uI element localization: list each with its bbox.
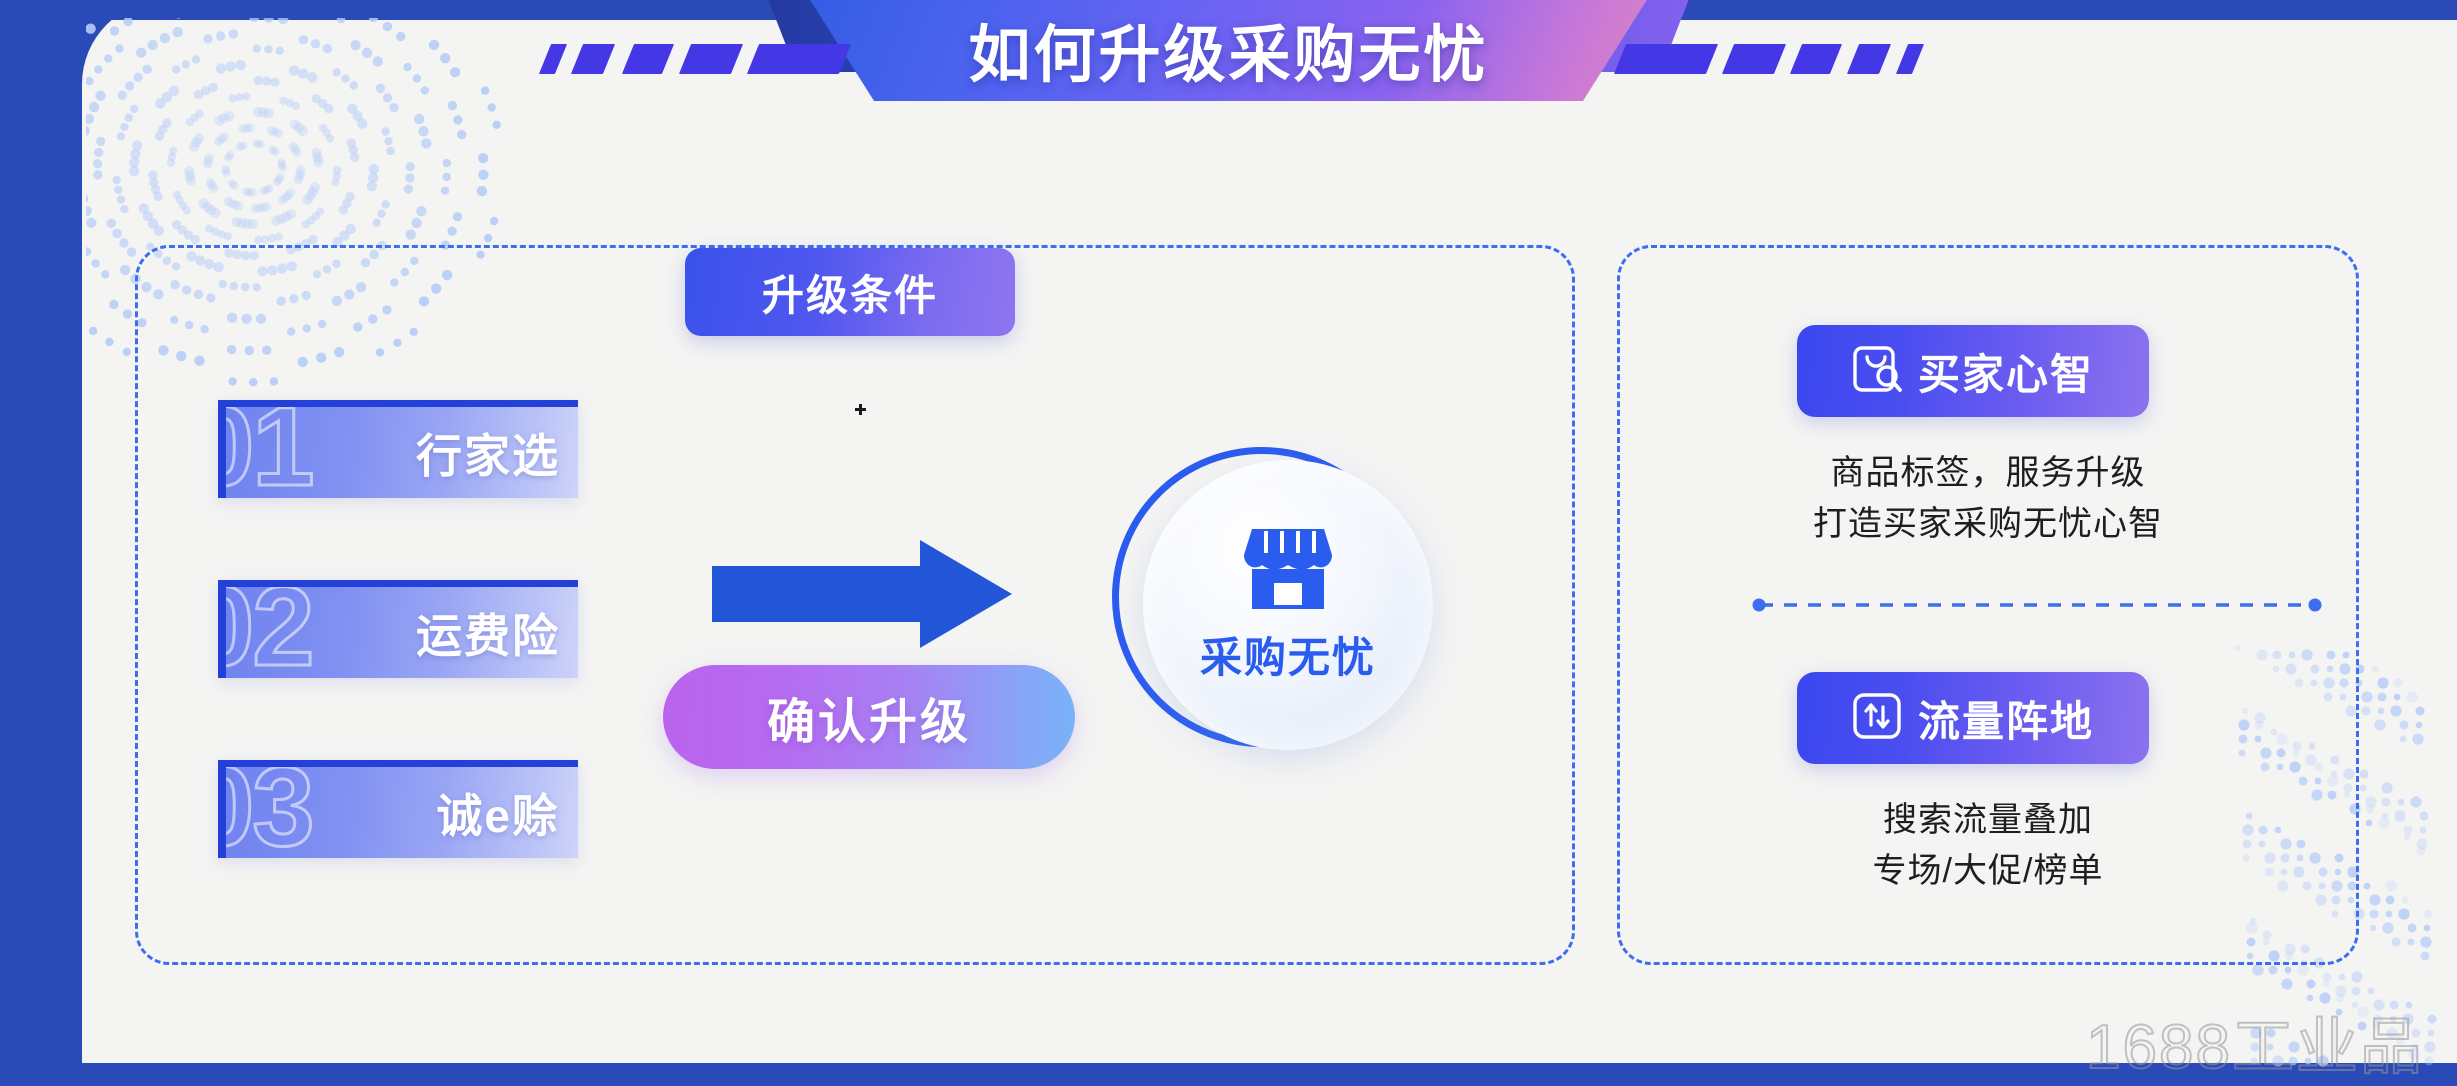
condition-label-3: 诚e赊 xyxy=(436,780,560,846)
traffic-arrows-icon xyxy=(1852,691,1902,746)
page-title: 如何升级采购无忧 xyxy=(767,6,1690,92)
poster-stage: 如何升级采购无忧 升级条件 01 行家选 02 运费险 03 诚e赊 确认升级 xyxy=(0,0,2457,1082)
cursor-crosshair-icon xyxy=(855,404,866,415)
benefit-desc-2: 搜索流量叠加 专场/大促/榜单 xyxy=(1617,795,2359,897)
benefit-desc-2-line1: 搜索流量叠加 xyxy=(1617,795,2359,846)
watermark: 1688工业品 xyxy=(2086,996,2424,1086)
condition-item-3[interactable]: 03 诚e赊 xyxy=(218,760,578,858)
slanted-bars-right-icon xyxy=(1650,44,1920,78)
condition-number-1: 01 xyxy=(218,400,313,498)
title-banner: 如何升级采购无忧 xyxy=(0,0,2457,120)
benefit-badge-label-1: 买家心智 xyxy=(1918,341,2094,402)
result-label: 采购无忧 xyxy=(1200,624,1376,685)
result-circle: 采购无忧 xyxy=(1143,460,1433,750)
condition-number-3: 03 xyxy=(218,760,313,858)
condition-number-2: 02 xyxy=(218,580,313,678)
benefit-badge-label-2: 流量阵地 xyxy=(1918,688,2094,749)
upgrade-conditions-badge: 升级条件 xyxy=(685,248,1015,336)
confirm-upgrade-button[interactable]: 确认升级 xyxy=(663,665,1075,769)
condition-item-2[interactable]: 02 运费险 xyxy=(218,580,578,678)
benefit-desc-2-line2: 专场/大促/榜单 xyxy=(1617,846,2359,897)
benefit-separator xyxy=(1752,598,2322,612)
shop-storefront-icon xyxy=(1244,525,1332,614)
benefit-desc-1-line1: 商品标签，服务升级 xyxy=(1617,448,2359,499)
right-arrow-icon xyxy=(712,540,1012,648)
benefit-desc-1: 商品标签，服务升级 打造买家采购无忧心智 xyxy=(1617,448,2359,550)
condition-label-2: 运费险 xyxy=(416,600,560,666)
benefit-desc-1-line2: 打造买家采购无忧心智 xyxy=(1617,499,2359,550)
benefit-badge-2[interactable]: 流量阵地 xyxy=(1797,672,2149,764)
shopping-bag-search-icon xyxy=(1852,344,1902,399)
condition-item-1[interactable]: 01 行家选 xyxy=(218,400,578,498)
condition-label-1: 行家选 xyxy=(416,420,560,486)
benefit-badge-1[interactable]: 买家心智 xyxy=(1797,325,2149,417)
